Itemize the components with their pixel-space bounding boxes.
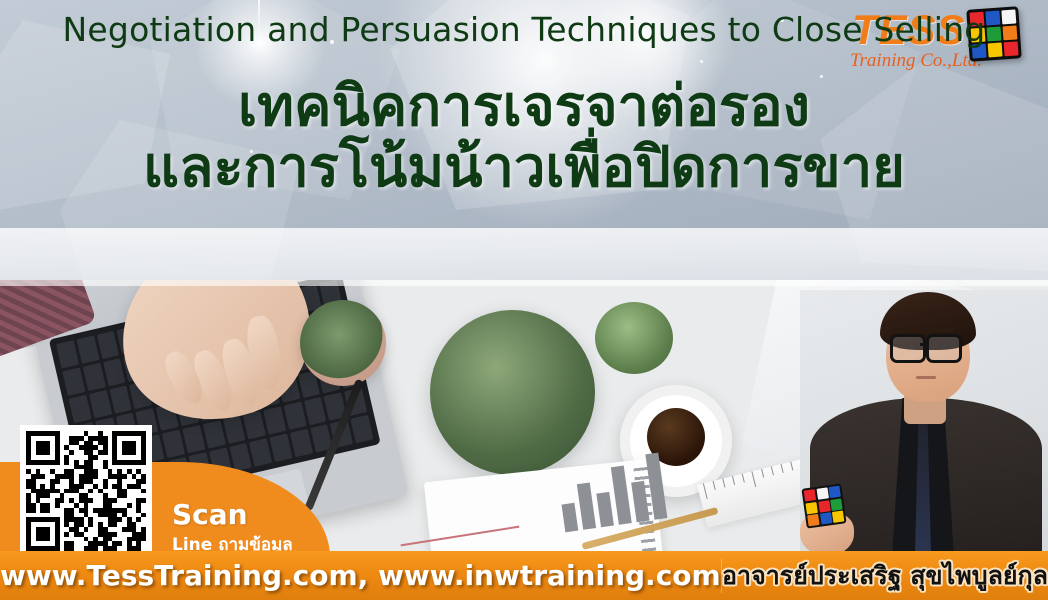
keyboard-key	[96, 331, 119, 359]
subtitle-english: Negotiation and Persuasion Techniques to…	[0, 0, 1048, 58]
eyeglasses-lens	[890, 334, 926, 363]
keyboard-key	[249, 438, 272, 466]
sparkle	[700, 60, 703, 63]
title-block: เทคนิคการเจรจาต่อรอง และการโน้มน้าวเพื่อ…	[0, 78, 1048, 196]
page-title-thai-line2: และการโน้มน้าวเพื่อปิดการขาย	[0, 139, 1048, 196]
keyboard-key	[304, 397, 327, 425]
footer-urls[interactable]: www.TessTraining.com, www.inwtraining.co…	[0, 559, 721, 592]
keyboard-key	[182, 425, 205, 453]
footer-instructor-name: อาจารย์ประเสริฐ สุขไพบูลย์กุล	[722, 556, 1048, 596]
ruler-tick	[761, 469, 764, 478]
keyboard-key	[62, 367, 85, 395]
subtitle-band	[0, 228, 1048, 286]
ruler-tick	[722, 478, 725, 487]
chart-bar	[577, 482, 596, 529]
keyboard-key	[83, 363, 106, 391]
cube-facelet	[832, 510, 844, 522]
keyboard-key	[89, 390, 112, 418]
chart-bar	[596, 492, 614, 527]
keyboard-key	[270, 434, 293, 462]
cube-facelet	[807, 514, 819, 526]
keyboard-key	[103, 358, 126, 386]
instructor-portrait	[800, 290, 1048, 560]
ruler-tick	[790, 462, 793, 471]
chart-bar	[631, 481, 649, 522]
rubiks-cube-icon	[801, 483, 846, 528]
cube-facelet	[828, 486, 840, 498]
qr-code-pattern	[26, 431, 146, 551]
mouth	[916, 376, 936, 379]
potted-plant-large	[430, 310, 595, 475]
footer-bar: www.TessTraining.com, www.inwtraining.co…	[0, 551, 1048, 600]
chart-bar	[645, 453, 667, 520]
ruler-tick	[703, 483, 708, 499]
keyboard-key	[203, 421, 226, 449]
ruler-tick	[751, 471, 756, 487]
eyeglasses-lens	[926, 334, 962, 363]
ruler-tick	[742, 474, 745, 483]
keyboard-key	[56, 340, 79, 368]
ruler-tick	[732, 476, 735, 485]
promotional-poster: TESS Training Co.,Ltd. เทคนิคการเจรจาต่อ…	[0, 0, 1048, 600]
potted-plant-small	[300, 300, 386, 386]
keyboard-key	[109, 385, 132, 413]
chart-bar	[611, 466, 632, 525]
cube-facelet	[804, 489, 816, 501]
eyeglasses-bridge	[920, 343, 928, 346]
succulent-plant	[595, 302, 673, 374]
qr-code[interactable]	[20, 425, 152, 557]
eyebrow	[928, 328, 954, 332]
keyboard-key	[76, 336, 99, 364]
keyboard-key	[263, 407, 286, 435]
keyboard-key	[223, 416, 246, 444]
keyboard-key	[162, 430, 185, 458]
keyboard-key	[243, 411, 266, 439]
ruler-tick	[713, 481, 716, 490]
ruler-tick	[780, 464, 783, 473]
cube-facelet	[830, 498, 842, 510]
page-title-thai-line1: เทคนิคการเจรจาต่อรอง	[0, 78, 1048, 135]
keyboard-key	[351, 415, 374, 443]
cube-facelet	[816, 487, 828, 499]
cube-facelet	[818, 500, 830, 512]
chart-bar	[562, 503, 579, 533]
keyboard-key	[69, 394, 92, 422]
cube-facelet	[820, 512, 832, 524]
cube-facelet	[805, 502, 817, 514]
keyboard-key	[290, 429, 313, 457]
eyebrow	[892, 328, 918, 332]
ruler-tick	[771, 466, 774, 475]
keyboard-key	[284, 402, 307, 430]
scan-label: Scan	[172, 498, 248, 531]
